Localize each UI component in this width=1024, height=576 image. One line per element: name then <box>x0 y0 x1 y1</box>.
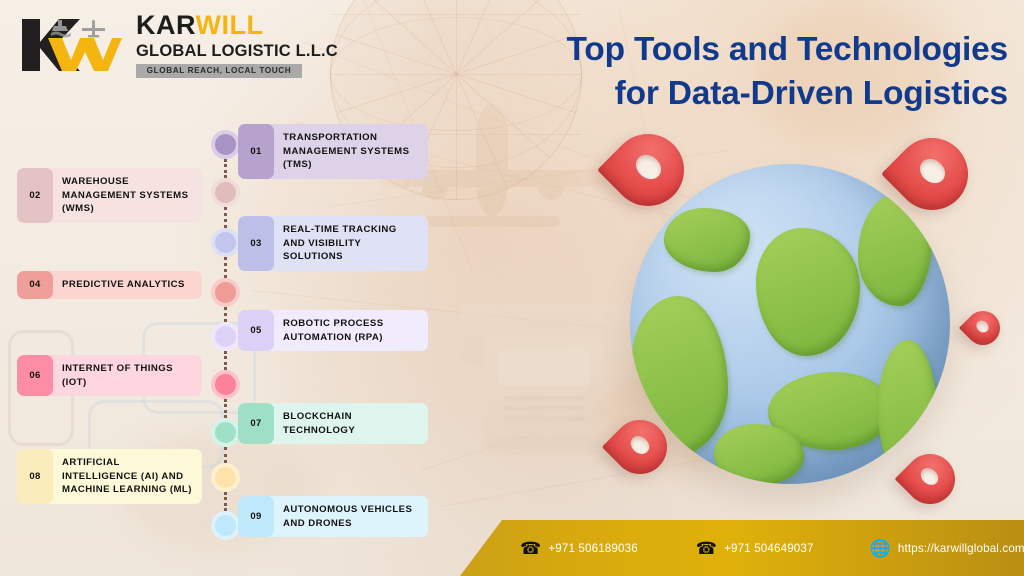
item-label-07: BLOCKCHAIN TECHNOLOGY <box>274 403 428 444</box>
brand-subtitle: GLOBAL LOGISTIC L.L.C <box>136 43 308 60</box>
phone-icon: ☎ <box>696 540 717 557</box>
contact-website[interactable]: 🌐 https://karwillglobal.com <box>870 540 1024 557</box>
brand-logo[interactable]: KARWILL GLOBAL LOGISTIC L.L.C GLOBAL REA… <box>18 12 308 78</box>
item-number-04: 04 <box>17 271 53 299</box>
page-title-line-1: Top Tools and Technologies <box>567 31 1008 68</box>
timeline-segment <box>224 207 230 228</box>
item-card-07[interactable]: 07BLOCKCHAIN TECHNOLOGY <box>238 403 428 444</box>
item-card-09[interactable]: 09AUTONOMOUS VEHICLES AND DRONES <box>238 496 428 537</box>
item-label-06: INTERNET OF THINGS (IOT) <box>53 355 202 396</box>
infographic-poster: KARWILL GLOBAL LOGISTIC L.L.C GLOBAL REA… <box>0 0 1024 576</box>
map-pin-icon <box>900 450 962 514</box>
brand-name-will: WILL <box>196 10 264 40</box>
timeline-dot-01 <box>211 130 240 159</box>
globe-web-icon: 🌐 <box>870 540 891 557</box>
item-label-09: AUTONOMOUS VEHICLES AND DRONES <box>274 496 428 537</box>
timeline-dot-03 <box>211 228 240 257</box>
item-number-09: 09 <box>238 496 274 537</box>
map-pin-icon <box>962 308 1006 354</box>
contact-phone-2-text: +971 504649037 <box>724 542 813 555</box>
page-title-line-2: for Data-Driven Logistics <box>452 72 1008 116</box>
timeline-segment <box>224 492 230 511</box>
item-label-08: ARTIFICIAL INTELLIGENCE (AI) AND MACHINE… <box>53 449 202 504</box>
timeline-connector <box>211 128 241 540</box>
item-label-02: WAREHOUSE MANAGEMENT SYSTEMS (WMS) <box>53 168 202 223</box>
item-card-08[interactable]: 08ARTIFICIAL INTELLIGENCE (AI) AND MACHI… <box>17 449 202 504</box>
item-label-05: ROBOTIC PROCESS AUTOMATION (RPA) <box>274 310 428 351</box>
item-number-07: 07 <box>238 403 274 444</box>
item-label-04: PREDICTIVE ANALYTICS <box>53 271 202 299</box>
item-number-05: 05 <box>238 310 274 351</box>
contact-phone-1[interactable]: ☎ +971 506189036 <box>520 540 638 557</box>
item-number-02: 02 <box>17 168 53 223</box>
contact-website-text: https://karwillglobal.com <box>898 542 1024 555</box>
item-card-02[interactable]: 02WAREHOUSE MANAGEMENT SYSTEMS (WMS) <box>17 168 202 223</box>
contact-phone-2[interactable]: ☎ +971 504649037 <box>696 540 814 557</box>
timeline-dot-07 <box>211 418 240 447</box>
item-number-03: 03 <box>238 216 274 271</box>
brand-name: KARWILL <box>136 12 308 39</box>
map-pin-icon <box>888 132 980 228</box>
karwill-kw-monogram-icon <box>18 16 124 74</box>
timeline-segment <box>224 257 230 278</box>
timeline-dot-02 <box>211 178 240 207</box>
item-number-06: 06 <box>17 355 53 396</box>
item-label-01: TRANSPORTATION MANAGEMENT SYSTEMS (TMS) <box>274 124 428 179</box>
contact-footer-bar: ☎ +971 506189036 ☎ +971 504649037 🌐 http… <box>460 520 1024 576</box>
timeline-dot-04 <box>211 278 240 307</box>
brand-tagline: GLOBAL REACH, LOCAL TOUCH <box>136 64 302 79</box>
timeline-segment <box>224 399 230 418</box>
brand-name-kar: KAR <box>136 10 196 40</box>
phone-icon: ☎ <box>520 540 541 557</box>
timeline-segment <box>224 307 230 322</box>
page-title: Top Tools and Technologies for Data-Driv… <box>452 28 1008 115</box>
item-number-08: 08 <box>17 449 53 504</box>
timeline-segment <box>224 159 230 178</box>
item-label-03: REAL-TIME TRACKING AND VISIBILITY SOLUTI… <box>274 216 428 271</box>
item-number-01: 01 <box>238 124 274 179</box>
timeline-dot-05 <box>211 322 240 351</box>
item-card-03[interactable]: 03REAL-TIME TRACKING AND VISIBILITY SOLU… <box>238 216 428 271</box>
item-card-04[interactable]: 04PREDICTIVE ANALYTICS <box>17 271 202 299</box>
globe-illustration <box>600 128 1010 518</box>
brand-wordmark: KARWILL GLOBAL LOGISTIC L.L.C GLOBAL REA… <box>136 12 308 78</box>
item-card-01[interactable]: 01TRANSPORTATION MANAGEMENT SYSTEMS (TMS… <box>238 124 428 179</box>
item-card-06[interactable]: 06INTERNET OF THINGS (IOT) <box>17 355 202 396</box>
timeline-dot-09 <box>211 511 240 540</box>
timeline-segment <box>224 351 230 370</box>
map-pin-icon <box>608 416 676 486</box>
timeline-dot-06 <box>211 370 240 399</box>
map-pin-icon <box>604 128 696 224</box>
item-card-05[interactable]: 05ROBOTIC PROCESS AUTOMATION (RPA) <box>238 310 428 351</box>
timeline-segment <box>224 447 230 463</box>
contact-phone-1-text: +971 506189036 <box>548 542 637 555</box>
timeline-dot-08 <box>211 463 240 492</box>
